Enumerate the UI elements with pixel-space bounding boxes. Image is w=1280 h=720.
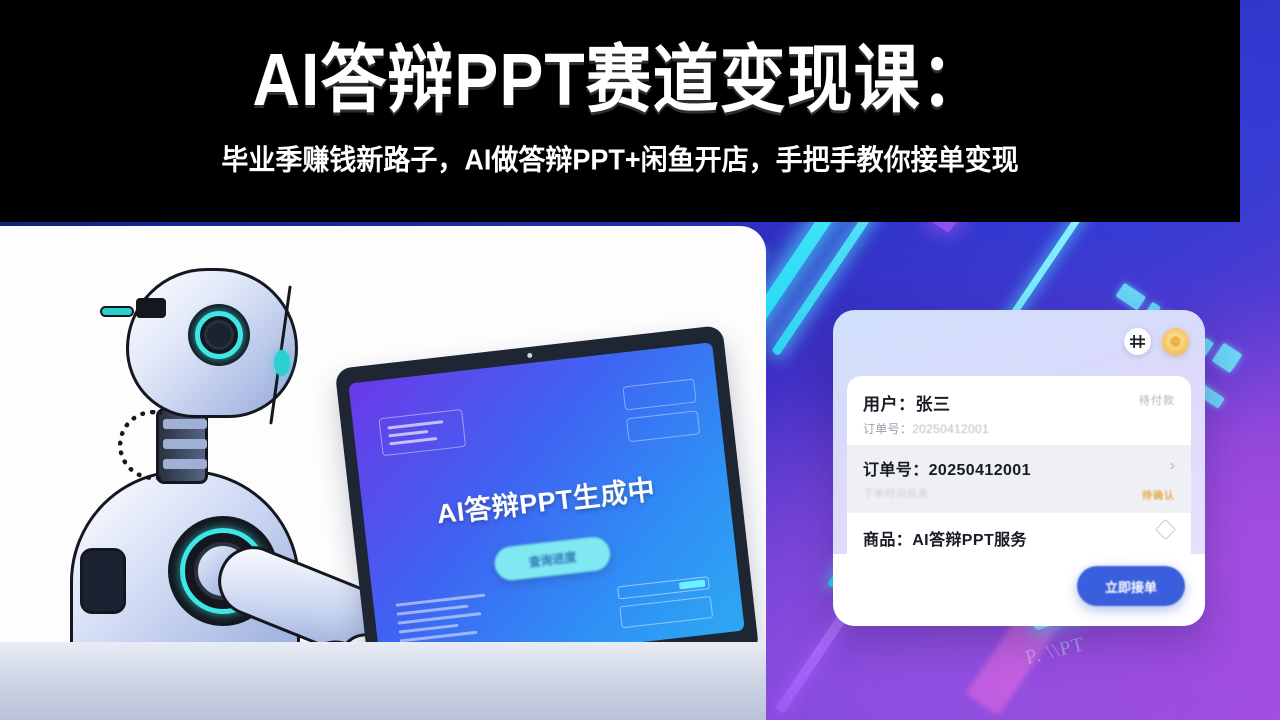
card-footer: 立即接单 (833, 554, 1205, 626)
robot-visor (136, 298, 166, 318)
robot-eye (188, 304, 250, 366)
status-badge: 待确认 (1142, 487, 1175, 502)
user-status-note: 待付款 (1139, 392, 1175, 408)
goods-value: AI答辩PPT服务 (912, 532, 1027, 549)
goods-line: 商品：AI答辩PPT服务 (863, 526, 1175, 550)
monitor-screen: AI答辩PPT生成中 查询进度 (348, 342, 744, 672)
screen-ui-box (626, 410, 700, 442)
order-line: 订单号：20250412001 (863, 456, 1175, 480)
screen-ui-box (622, 379, 696, 411)
screen-title-text: AI答辩PPT生成中 (362, 459, 730, 539)
robot-chest-panel (80, 548, 126, 614)
desk-surface (0, 642, 766, 720)
screen-action-button[interactable]: 查询进度 (493, 535, 612, 582)
user-order-subline: 订单号：20250412001 (863, 420, 1175, 437)
robot-cable (118, 410, 162, 480)
robot-antenna (100, 306, 134, 317)
order-label: 订单号： (863, 462, 929, 479)
illustration-panel: AI答辩PPT生成中 查询进度 (0, 226, 766, 720)
robot-neck (156, 408, 208, 484)
title-banner: AI答辩PPT赛道变现课： 毕业季赚钱新路子，AI做答辩PPT+闲鱼开店，手把手… (0, 0, 1240, 222)
avatar-icon[interactable] (1162, 328, 1189, 355)
order-subnote: 下单时间信息 (863, 485, 1175, 500)
menu-icon[interactable] (1124, 328, 1151, 355)
order-detail-card: 用户：张三 订单号：20250412001 待付款 订单号：2025041200… (847, 376, 1191, 558)
chevron-right-icon[interactable]: › (1170, 457, 1175, 475)
screen-progress-bar (617, 576, 710, 599)
goods-label: 商品： (863, 532, 912, 549)
accept-order-button[interactable]: 立即接单 (1077, 566, 1185, 606)
user-sub-label: 订单号： (863, 422, 912, 436)
user-sub-value: 20250412001 (912, 422, 989, 436)
user-line: 用户：张三 (863, 390, 1175, 415)
robot-eye-core (204, 320, 234, 350)
user-label: 用户： (863, 395, 916, 414)
card-top-icons (1124, 328, 1189, 355)
poster-stage: ¦‹|¦ ›‹(4•]¦ 1‹ ][⁊(•)•‹| |¦()¦ ;[¦ )•¦ … (0, 0, 1280, 720)
page-title: AI答辩PPT赛道变现课： (252, 42, 987, 116)
page-subtitle: 毕业季赚钱新路子，AI做答辩PPT+闲鱼开店，手把手教你接单变现 (221, 137, 1018, 178)
user-row: 用户：张三 订单号：20250412001 待付款 (863, 390, 1175, 437)
order-card: 用户：张三 订单号：20250412001 待付款 订单号：2025041200… (833, 310, 1205, 626)
screen-ui-card (378, 409, 466, 456)
goods-row: 商品：AI答辩PPT服务 查看详情 (863, 513, 1175, 550)
screen-ui-lines (396, 593, 496, 648)
order-value: 20250412001 (929, 462, 1031, 479)
order-number-row[interactable]: 订单号：20250412001 下单时间信息 › 待确认 (847, 445, 1191, 513)
screen-ui-box (619, 596, 713, 628)
user-value: 张三 (916, 395, 951, 414)
robot-cheek-light (274, 350, 290, 376)
